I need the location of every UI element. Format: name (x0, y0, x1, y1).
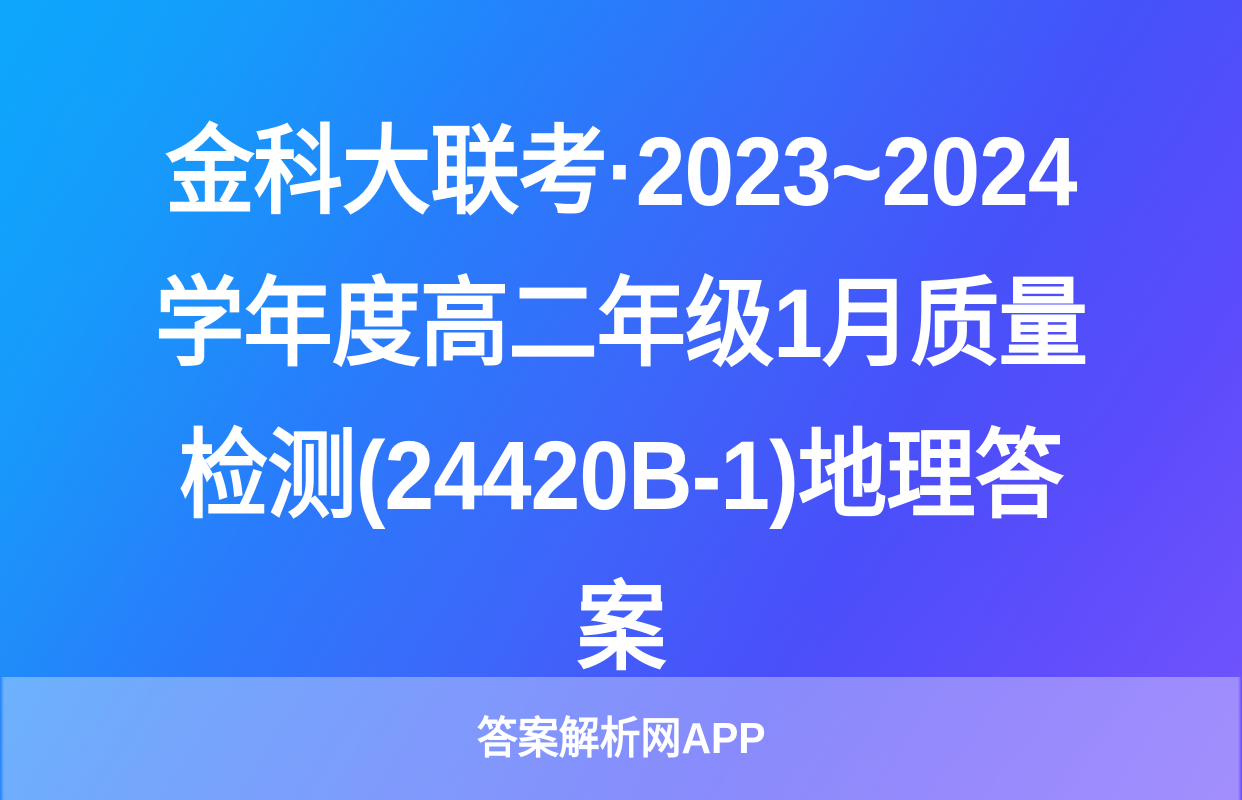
footer-brand-label: 答案解析网APP (477, 717, 766, 761)
poster-title: 金科大联考·2023~2024 学年度高二年级1月质量 检测(24420B-1)… (0, 96, 1242, 704)
title-line-3: 检测(24420B-1)地理答 (75, 400, 1166, 552)
title-line-1: 金科大联考·2023~2024 (75, 96, 1166, 248)
footer-brand-band: 答案解析网APP (0, 677, 1242, 800)
footer-edge-left (0, 677, 4, 800)
footer-edge-right (1238, 677, 1242, 800)
poster-canvas: 金科大联考·2023~2024 学年度高二年级1月质量 检测(24420B-1)… (0, 0, 1242, 800)
title-line-2: 学年度高二年级1月质量 (75, 248, 1166, 400)
